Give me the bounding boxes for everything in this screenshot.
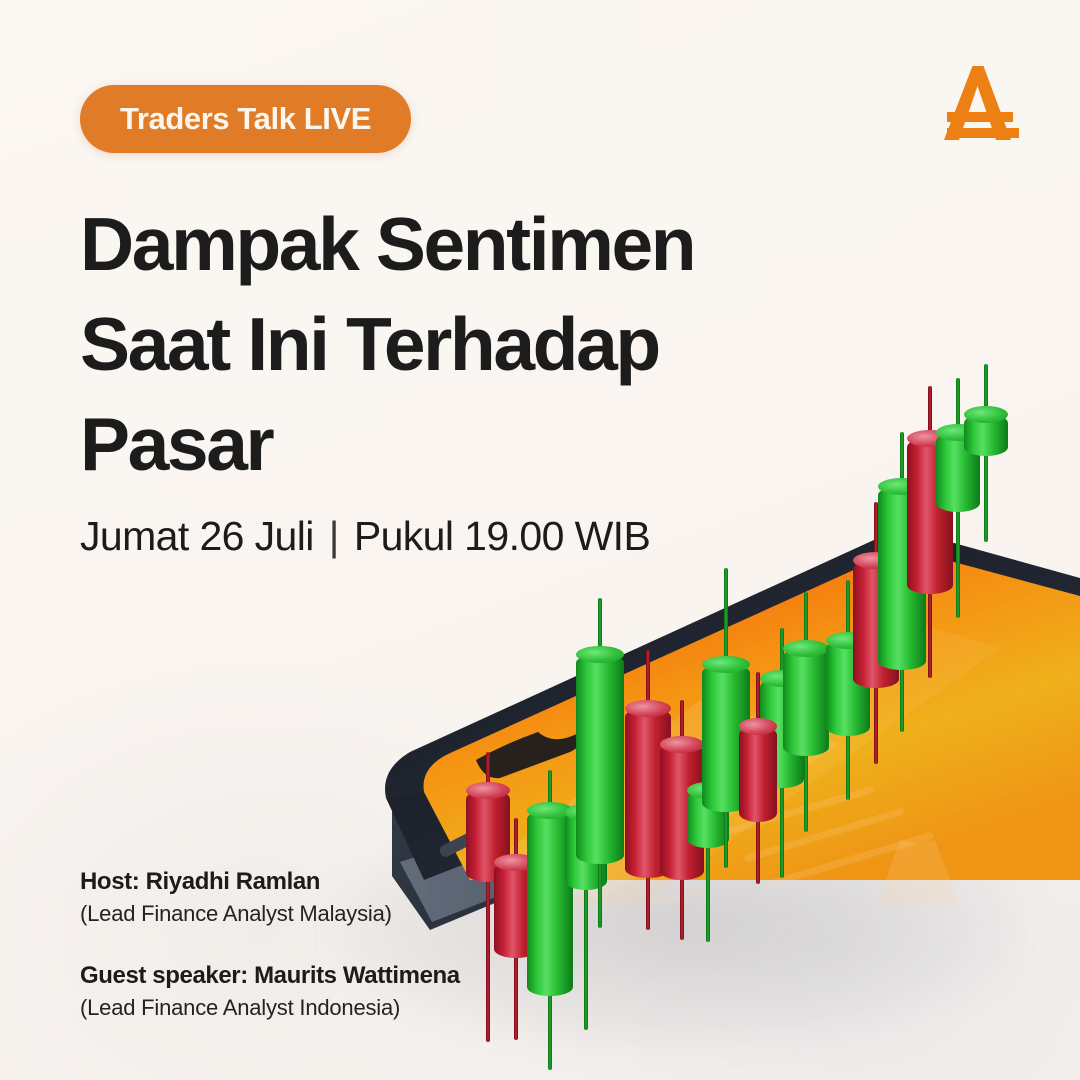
event-datetime: Jumat 26 Juli | Pukul 19.00 WIB [80,513,650,560]
poster-canvas: Traders Talk LIVE Dampak Sentimen Saat I… [0,0,1080,1080]
event-time: Pukul 19.00 WIB [354,513,650,560]
badge-label: Traders Talk LIVE [120,101,371,137]
guest-name: Guest speaker: Maurits Wattimena [80,960,460,992]
a-currency-logo-icon [925,58,1029,162]
headline-line-2: Saat Ini Terhadap [80,294,840,394]
host-name: Host: Riyadhi Ramlan [80,866,460,898]
headline-line-3: Pasar [80,394,840,494]
event-date: Jumat 26 Juli [80,513,314,560]
headline-line-1: Dampak Sentimen [80,194,840,294]
datetime-separator: | [329,513,339,560]
credit-host: Host: Riyadhi Ramlan (Lead Finance Analy… [80,866,460,930]
credit-guest: Guest speaker: Maurits Wattimena (Lead F… [80,960,460,1024]
host-role: (Lead Finance Analyst Malaysia) [80,898,460,930]
guest-role: (Lead Finance Analyst Indonesia) [80,992,460,1024]
page-title: Dampak Sentimen Saat Ini Terhadap Pasar [80,194,840,494]
traders-talk-live-badge[interactable]: Traders Talk LIVE [80,85,411,153]
speaker-credits: Host: Riyadhi Ramlan (Lead Finance Analy… [80,866,460,1024]
